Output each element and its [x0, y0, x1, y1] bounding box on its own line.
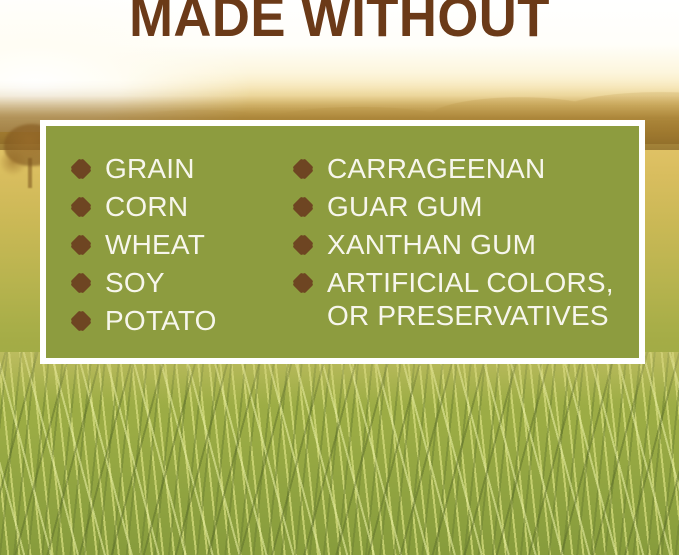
list-item-label: POTATO: [105, 304, 217, 337]
background-shrub: [0, 150, 26, 176]
list-item: SOY: [70, 266, 292, 304]
list-item: GUAR GUM: [292, 190, 639, 228]
grass-haze-overlay: [0, 352, 679, 555]
list-item-label: GRAIN: [105, 152, 195, 185]
list-item-label: CARRAGEENAN: [327, 152, 545, 185]
list-item: CARRAGEENAN: [292, 152, 639, 190]
list-item-label: SOY: [105, 266, 165, 299]
page-title: MADE WITHOUT: [20, 0, 658, 47]
list-item-label: WHEAT: [105, 228, 205, 261]
x-mark-icon: [70, 234, 92, 256]
list-item: POTATO: [70, 304, 292, 342]
list-item: ARTIFICIAL COLORS, OR PRESERVATIVES: [292, 266, 639, 332]
x-mark-icon: [70, 158, 92, 180]
list-item: XANTHAN GUM: [292, 228, 639, 266]
list-item-label: GUAR GUM: [327, 190, 483, 223]
x-mark-icon: [292, 272, 314, 294]
panel-inner: GRAIN CORN WHEAT SOY: [46, 126, 639, 358]
x-mark-icon: [292, 234, 314, 256]
list-item-label: XANTHAN GUM: [327, 228, 536, 261]
x-mark-icon: [70, 196, 92, 218]
x-mark-icon: [292, 158, 314, 180]
x-mark-icon: [70, 272, 92, 294]
x-mark-icon: [292, 196, 314, 218]
poster: MADE WITHOUT GRAIN CORN WHEAT: [0, 0, 679, 555]
exclusion-column-left: GRAIN CORN WHEAT SOY: [70, 152, 292, 358]
list-item: WHEAT: [70, 228, 292, 266]
exclusion-columns: GRAIN CORN WHEAT SOY: [46, 126, 639, 358]
list-item-label: CORN: [105, 190, 188, 223]
exclusion-column-right: CARRAGEENAN GUAR GUM XANTHAN GUM ARTIFIC…: [292, 152, 639, 358]
list-item-label: ARTIFICIAL COLORS, OR PRESERVATIVES: [327, 266, 614, 332]
x-mark-icon: [70, 310, 92, 332]
list-item: CORN: [70, 190, 292, 228]
lone-tree-trunk: [28, 158, 32, 188]
made-without-panel: GRAIN CORN WHEAT SOY: [40, 120, 645, 364]
list-item: GRAIN: [70, 152, 292, 190]
foreground-grass: [0, 352, 679, 555]
